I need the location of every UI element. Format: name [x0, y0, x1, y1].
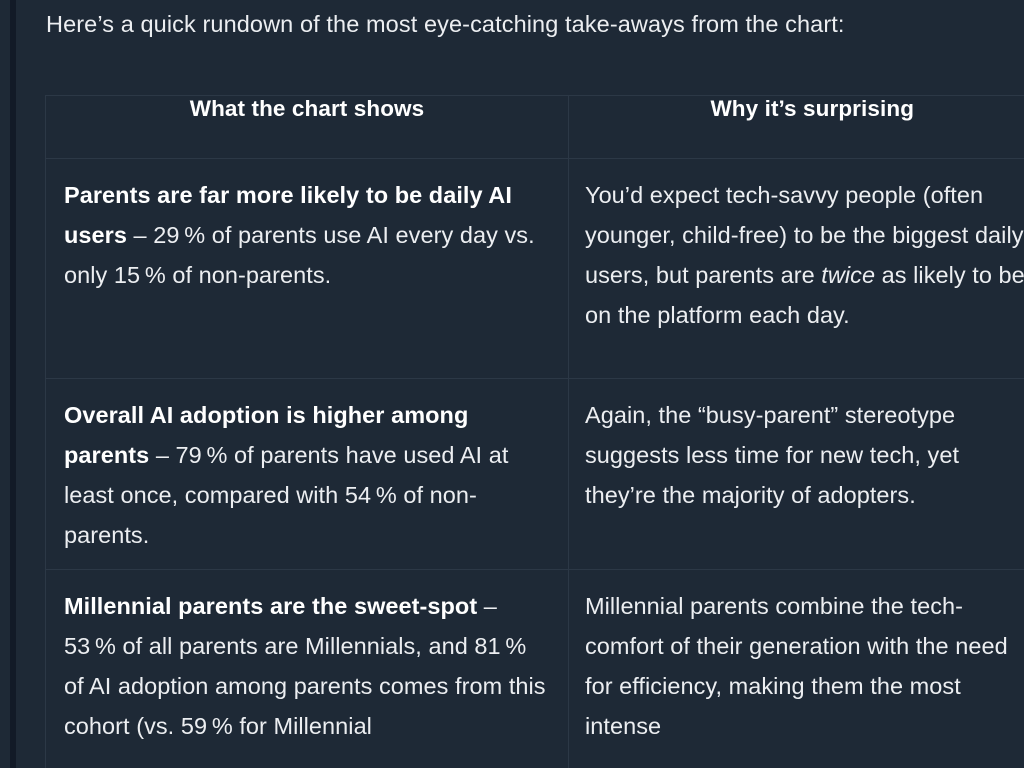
- document-content: Here’s a quick rundown of the most eye-c…: [22, 0, 1024, 768]
- surprise-emphasis: twice: [821, 262, 875, 288]
- intro-paragraph: Here’s a quick rundown of the most eye-c…: [46, 4, 976, 44]
- takeaway-body: 53 % of all parents are Millennials, and…: [64, 633, 546, 739]
- takeaways-table: What the chart shows Why it’s surprising…: [45, 95, 1024, 768]
- column-header-what-the-chart-shows: What the chart shows: [46, 96, 569, 159]
- table-row: Overall AI adoption is higher among pare…: [46, 379, 1024, 570]
- surprise-part-1: Millennial parents combine the tech-comf…: [585, 593, 1008, 739]
- surprise-text: Again, the “busy-parent” stereotype sugg…: [585, 395, 1024, 515]
- surprise-text: Millennial parents combine the tech-comf…: [585, 586, 1024, 746]
- takeaway-cell-left: Millennial parents are the sweet-spot – …: [46, 570, 569, 768]
- takeaway-dash: –: [477, 593, 497, 619]
- takeaway-cell-right: Again, the “busy-parent” stereotype sugg…: [569, 379, 1024, 570]
- table-row: Millennial parents are the sweet-spot – …: [46, 570, 1024, 768]
- table-row: Parents are far more likely to be daily …: [46, 159, 1024, 379]
- takeaway-cell-left: Overall AI adoption is higher among pare…: [46, 379, 569, 570]
- surprise-part-1: Again, the “busy-parent” stereotype sugg…: [585, 402, 959, 508]
- left-gutter-strip: [0, 0, 22, 768]
- takeaway-text: Overall AI adoption is higher among pare…: [64, 395, 548, 555]
- takeaway-dash: –: [149, 442, 175, 468]
- takeaway-cell-left: Parents are far more likely to be daily …: [46, 159, 569, 379]
- table-body: Parents are far more likely to be daily …: [46, 159, 1024, 768]
- takeaway-cell-right: Millennial parents combine the tech-comf…: [569, 570, 1024, 768]
- surprise-text: You’d expect tech-savvy people (often yo…: [585, 175, 1024, 335]
- scroll-rail[interactable]: [10, 0, 16, 768]
- column-header-why-its-surprising: Why it’s surprising: [569, 96, 1024, 159]
- table-header: What the chart shows Why it’s surprising: [46, 96, 1024, 159]
- takeaway-cell-right: You’d expect tech-savvy people (often yo…: [569, 159, 1024, 379]
- takeaway-lead: Millennial parents are the sweet-spot: [64, 593, 477, 619]
- takeaway-dash: –: [127, 222, 153, 248]
- table-header-row: What the chart shows Why it’s surprising: [46, 96, 1024, 159]
- takeaway-text: Millennial parents are the sweet-spot – …: [64, 586, 548, 746]
- takeaway-text: Parents are far more likely to be daily …: [64, 175, 548, 295]
